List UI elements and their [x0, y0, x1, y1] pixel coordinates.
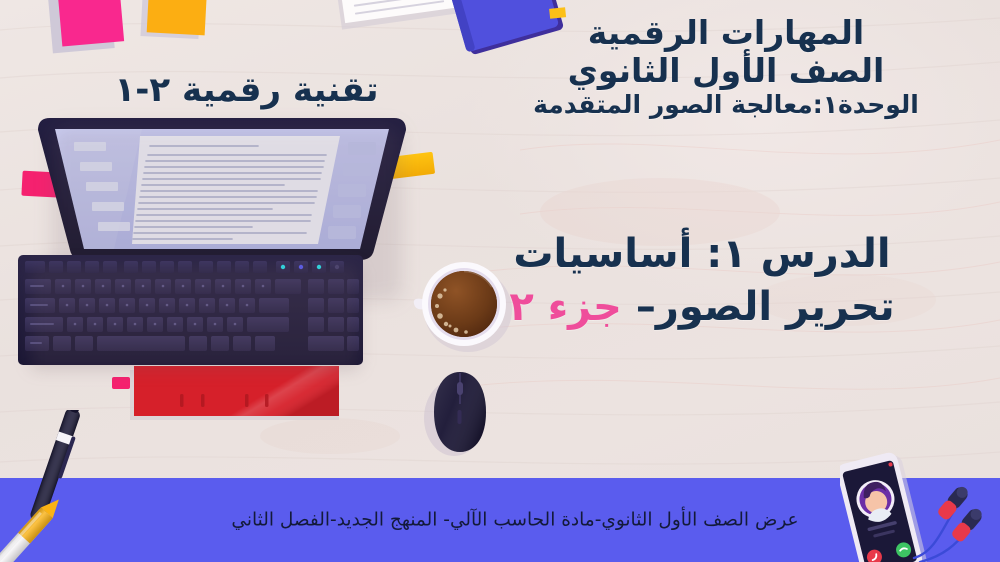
lesson-part-badge: جزء ٢ [509, 284, 622, 330]
sticky-notes-group [30, 0, 230, 74]
lesson-title-block: الدرس ١: أساسيات تحرير الصور– جزء ٢ [422, 228, 982, 334]
phone-and-earbuds-group [840, 452, 1000, 562]
pink-bookmark [112, 377, 130, 389]
subject-code-title: تقنية رقمية ٢-١ [104, 70, 389, 110]
keyboard [18, 255, 363, 365]
red-book [128, 366, 343, 422]
pens-group [0, 410, 144, 562]
slide-canvas: عرض الصف الأول الثانوي-مادة الحاسب الآلي… [0, 0, 1000, 562]
lesson-title-line2: تحرير الصور– جزء ٢ [422, 281, 982, 334]
lesson-title-main: تحرير الصور– [636, 284, 895, 330]
header-title-block: المهارات الرقمية الصف الأول الثانوي الوح… [466, 14, 986, 120]
course-title: المهارات الرقمية [466, 14, 986, 52]
grade-level: الصف الأول الثانوي [466, 52, 986, 90]
lesson-title-line1: الدرس ١: أساسيات [422, 228, 982, 281]
unit-title: الوحدة١:معالجة الصور المتقدمة [466, 90, 986, 120]
computer-mouse [424, 368, 496, 458]
